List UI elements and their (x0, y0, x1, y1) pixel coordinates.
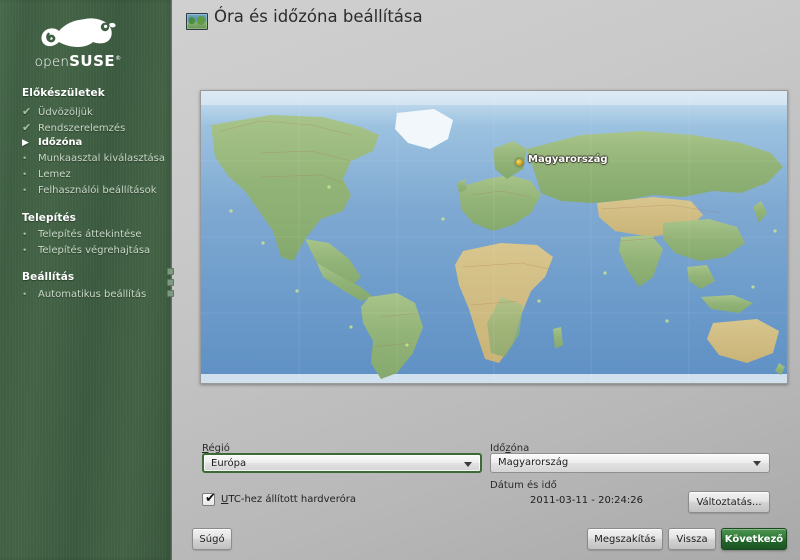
sidebar-item-label: Telepítés áttekintése (38, 229, 142, 240)
sidebar-item-label: Üdvözöljük (38, 107, 93, 118)
chameleon-icon (38, 16, 116, 52)
sidebar-item-desktop-selection[interactable]: •Munkaasztal kiválasztása (22, 153, 165, 164)
sidebar-section-preparation: Előkészületek (22, 87, 105, 99)
bullet-icon: • (22, 230, 38, 240)
logo-wordmark: openSUSE® (28, 52, 128, 70)
chevron-down-icon (464, 462, 472, 467)
logo-suse-text: SUSE (69, 52, 115, 70)
sidebar-item-installation-overview[interactable]: •Telepítés áttekintése (22, 229, 142, 240)
sidebar-item-label: Munkaasztal kiválasztása (38, 153, 165, 164)
checkbox-label: UTC-hez állított hardveróra (221, 494, 356, 505)
header: Óra és időzóna beállítása (172, 0, 800, 48)
change-datetime-button[interactable]: Változtatás... (688, 491, 770, 513)
sidebar-item-automatic-configuration[interactable]: •Automatikus beállítás (22, 289, 146, 300)
bullet-icon: • (22, 246, 38, 256)
sidebar-item-label: Rendszerelemzés (38, 123, 125, 134)
timezone-select[interactable]: Magyarország (490, 453, 770, 473)
datetime-label: Dátum és idő (490, 480, 557, 491)
sidebar-item-label: Lemez (38, 169, 71, 180)
sidebar-item-label: Automatikus beállítás (38, 289, 146, 300)
world-map-graphic (201, 91, 787, 383)
splitter-dot (167, 279, 174, 286)
region-value: Európa (211, 458, 246, 469)
timezone-location-label: Magyarország (528, 154, 608, 165)
sidebar-section-installation: Telepítés (22, 212, 76, 224)
timezone-value: Magyarország (498, 457, 568, 468)
opensuse-logo: openSUSE® (22, 16, 126, 72)
sidebar-item-label: Időzóna (38, 137, 82, 148)
utc-label-rest: TC-hez állított hardveróra (228, 494, 356, 505)
splitter-dot (167, 290, 174, 297)
splitter-dot (167, 268, 174, 275)
sidebar-item-welcome[interactable]: ✔Üdvözöljük (22, 105, 93, 118)
bullet-icon: • (22, 170, 38, 180)
check-icon: ✔ (22, 121, 38, 134)
sidebar-item-system-analysis[interactable]: ✔Rendszerelemzés (22, 121, 125, 134)
sidebar-item-disk[interactable]: •Lemez (22, 169, 71, 180)
bullet-icon: • (22, 186, 38, 196)
logo-open-text: open (35, 54, 70, 70)
bullet-icon: • (22, 290, 38, 300)
checkbox-box[interactable]: ✔ (202, 493, 215, 506)
sidebar-section-configuration: Beállítás (22, 271, 74, 283)
sidebar-item-timezone[interactable]: ▶Időzóna (22, 137, 82, 148)
installer-window: openSUSE® Előkészületek ✔Üdvözöljük ✔Ren… (0, 0, 800, 560)
help-button[interactable]: Súgó (192, 528, 232, 550)
timezone-location-marker (516, 159, 523, 166)
sidebar-item-user-settings[interactable]: •Felhasználói beállítások (22, 185, 157, 196)
datetime-value: 2011-03-11 - 20:24:26 (530, 495, 643, 506)
sidebar-item-label: Telepítés végrehajtása (38, 245, 150, 256)
page-title: Óra és időzóna beállítása (214, 7, 423, 26)
bullet-icon: • (22, 154, 38, 164)
abort-button[interactable]: Megszakítás (587, 528, 663, 550)
sidebar-item-label: Felhasználói beállítások (38, 185, 157, 196)
next-button[interactable]: Következő (721, 528, 787, 550)
play-arrow-icon: ▶ (22, 138, 38, 148)
world-map[interactable]: Magyarország (200, 90, 788, 384)
back-button[interactable]: Vissza (668, 528, 716, 550)
check-icon: ✔ (22, 105, 38, 118)
sidebar-item-perform-installation[interactable]: •Telepítés végrehajtása (22, 245, 150, 256)
sidebar-splitter-handle[interactable] (166, 268, 174, 294)
chevron-down-icon (753, 461, 761, 466)
check-icon: ✔ (205, 492, 216, 505)
logo-trademark: ® (115, 55, 121, 62)
sidebar: openSUSE® Előkészületek ✔Üdvözöljük ✔Ren… (0, 0, 172, 560)
world-map-icon (186, 13, 208, 30)
region-select[interactable]: Európa (202, 453, 482, 473)
